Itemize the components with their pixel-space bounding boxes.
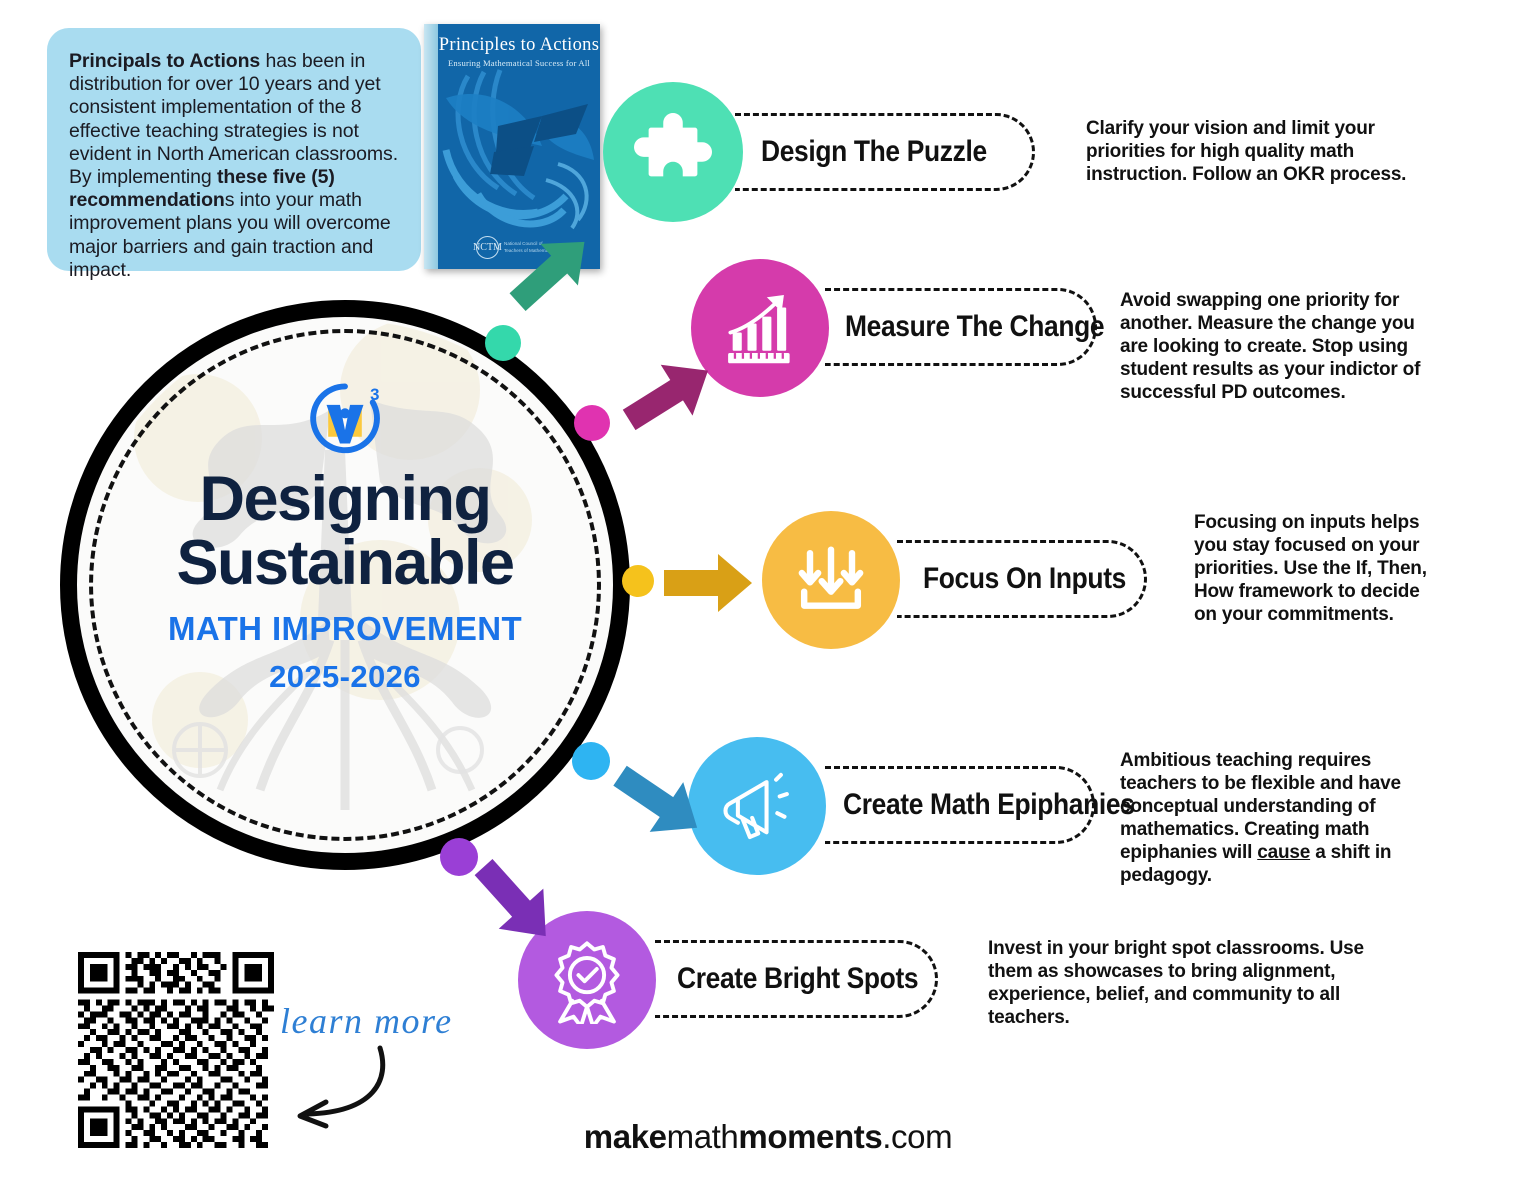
download-inputs-icon <box>789 538 873 622</box>
megaphone-icon <box>714 763 800 849</box>
central-hub-circle: 3 Designing Sustainable MATH IMPROVEMENT… <box>60 300 630 870</box>
pill-label-design-the-puzzle: Design The Puzzle <box>761 135 987 169</box>
book-subtitle: Ensuring Mathematical Success for All <box>438 58 600 68</box>
learn-more-label: learn more <box>280 1000 453 1042</box>
book-cover-artwork <box>438 68 600 243</box>
arrow-to-measure-the-change <box>614 345 724 445</box>
hub-dot-create-math-epiphanies <box>572 742 610 780</box>
puzzle-piece-icon <box>634 113 712 191</box>
pill-label-create-math-epiphanies: Create Math Epiphanies <box>843 788 1135 822</box>
curved-arrow-icon <box>278 1040 398 1130</box>
pill-create-bright-spots[interactable]: Create Bright Spots <box>655 940 938 1018</box>
arrow-to-focus-on-inputs <box>660 548 756 618</box>
arrow-to-create-bright-spots <box>460 852 570 952</box>
m3-superscript: 3 <box>370 385 379 404</box>
footer-part-domain: .com <box>882 1118 952 1155</box>
hub-title-line-1: Designing <box>199 470 490 530</box>
pill-measure-the-change[interactable]: Measure The Change <box>825 288 1097 366</box>
description-focus-on-inputs: Focusing on inputs helps you stay focuse… <box>1194 512 1436 627</box>
hub-dot-create-bright-spots <box>440 838 478 876</box>
desc-epiphanies-underline: cause <box>1257 842 1310 863</box>
hub-years: 2025-2026 <box>269 659 421 695</box>
m3-logo: 3 <box>303 378 387 462</box>
description-measure-the-change: Avoid swapping one priority for another.… <box>1120 290 1438 405</box>
icon-circle-focus-on-inputs[interactable] <box>762 511 900 649</box>
hub-title-line-2: Sustainable <box>176 534 513 594</box>
hub-text-block: 3 Designing Sustainable MATH IMPROVEMENT… <box>60 300 630 870</box>
pill-label-create-bright-spots: Create Bright Spots <box>677 962 918 996</box>
hub-dot-focus-on-inputs <box>622 565 654 597</box>
footer-part-moments: moments <box>738 1118 882 1155</box>
arrow-to-create-math-epiphanies <box>604 752 714 852</box>
icon-circle-design-the-puzzle[interactable] <box>603 82 743 222</box>
description-design-the-puzzle: Clarify your vision and limit your prior… <box>1086 118 1438 187</box>
hub-dot-design-the-puzzle <box>485 325 521 361</box>
pill-design-the-puzzle[interactable]: Design The Puzzle <box>735 113 1035 191</box>
footer-part-make: make <box>584 1118 667 1155</box>
intro-text: Principals to Actions has been in distri… <box>69 50 401 282</box>
hub-dot-measure-the-change <box>574 405 610 441</box>
footer-website[interactable]: makemathmoments.com <box>0 1118 1536 1156</box>
book-spine <box>424 24 438 269</box>
pill-label-measure-the-change: Measure The Change <box>845 310 1104 344</box>
arrow-to-design-the-puzzle <box>496 222 606 322</box>
book-title: Principles to Actions <box>438 35 600 56</box>
pill-create-math-epiphanies[interactable]: Create Math Epiphanies <box>825 766 1095 844</box>
intro-lead: Principals to Actions <box>69 50 260 72</box>
description-create-bright-spots: Invest in your bright spot classrooms. U… <box>988 938 1380 1030</box>
footer-part-math: math <box>667 1118 739 1155</box>
description-create-math-epiphanies: Ambitious teaching requires teachers to … <box>1120 750 1440 888</box>
pill-focus-on-inputs[interactable]: Focus On Inputs <box>897 540 1147 618</box>
pill-label-focus-on-inputs: Focus On Inputs <box>923 562 1126 596</box>
intro-callout: Principals to Actions has been in distri… <box>47 28 421 271</box>
bar-chart-growth-icon <box>719 287 801 369</box>
infographic-canvas: Principals to Actions has been in distri… <box>0 0 1536 1187</box>
hub-subtitle: MATH IMPROVEMENT <box>168 610 522 648</box>
